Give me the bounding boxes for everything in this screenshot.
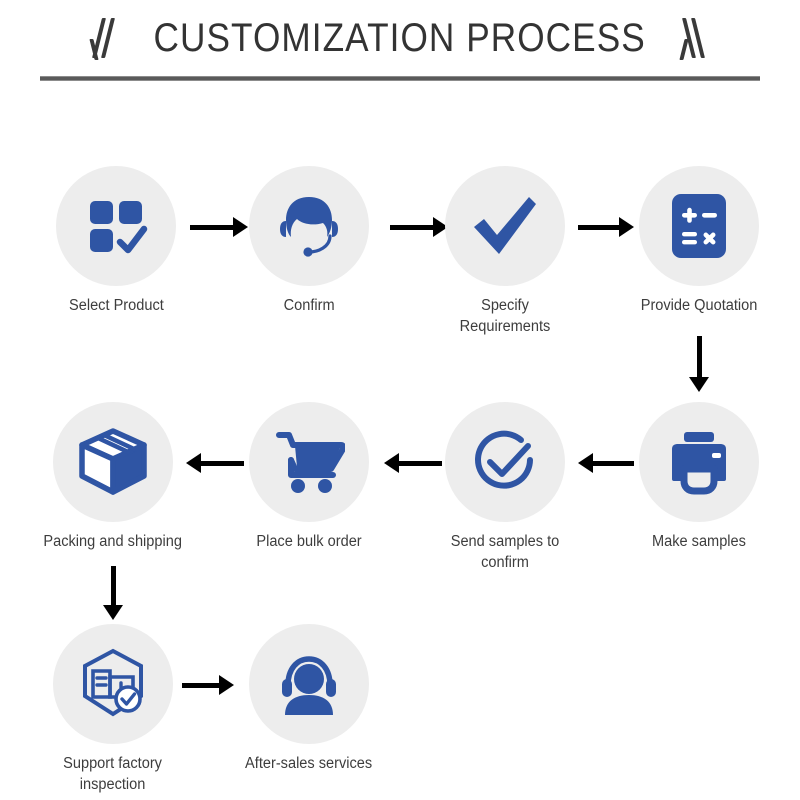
step-node-select-product[interactable]: Select Product	[41, 166, 191, 317]
step-node-packing-and-shipping[interactable]: Packing and shipping	[38, 402, 188, 553]
step-label: Provide Quotation	[641, 296, 758, 317]
arrow-step9-to-step10	[182, 674, 234, 696]
calculator-icon	[668, 192, 730, 260]
step-label: Packing and shipping	[44, 532, 183, 553]
page-title: CUSTOMIZATION PROCESS	[154, 16, 646, 61]
step-icon-circle	[53, 624, 173, 744]
step-label: Make samples	[652, 532, 746, 553]
arrow-step6-to-step7	[384, 452, 442, 474]
headset-agent-icon	[273, 190, 345, 262]
factory-inspection-shield-icon	[76, 647, 150, 721]
step-icon-circle	[249, 166, 369, 286]
customization-process-infographic: CUSTOMIZATION PROCESS Select Product	[0, 0, 800, 800]
step-label: Place bulk order	[256, 532, 361, 553]
step-node-send-samples-to-confirm[interactable]: Send samples to confirm	[430, 402, 580, 574]
step-icon-circle	[56, 166, 176, 286]
step-icon-circle	[445, 166, 565, 286]
title-divider	[40, 76, 760, 81]
step-label: Send samples to confirm	[435, 532, 576, 574]
step-node-after-sales-services[interactable]: After-sales services	[234, 624, 384, 775]
step-label: Select Product	[69, 296, 164, 317]
check-circle-icon	[469, 426, 541, 498]
arrow-step5-to-step6	[578, 452, 634, 474]
step-icon-circle	[639, 166, 759, 286]
checkmark-icon	[468, 189, 542, 263]
header: CUSTOMIZATION PROCESS	[0, 0, 800, 96]
step-icon-circle	[639, 402, 759, 522]
step-icon-circle	[249, 624, 369, 744]
step-icon-circle	[249, 402, 369, 522]
step-label: Specify Requirements	[435, 296, 576, 338]
step-node-provide-quotation[interactable]: Provide Quotation	[624, 166, 774, 317]
arrow-step8-to-step9	[102, 566, 124, 620]
double-chevron-left-icon	[682, 15, 708, 61]
arrow-step4-to-step5	[688, 336, 710, 392]
customer-support-icon	[273, 651, 345, 717]
step-label: After-sales services	[245, 754, 372, 775]
step-label: Support factory inspection	[64, 754, 163, 796]
arrow-step7-to-step8	[186, 452, 244, 474]
step-icon-circle	[445, 402, 565, 522]
step-node-support-factory-inspection[interactable]: Support factory inspection	[38, 624, 188, 796]
title-row: CUSTOMIZATION PROCESS	[0, 10, 800, 66]
step-label: Confirm	[283, 296, 334, 317]
step-node-confirm[interactable]: Confirm	[234, 166, 384, 317]
shopping-cart-icon	[273, 429, 345, 495]
step-node-make-samples[interactable]: Make samples	[624, 402, 774, 553]
double-chevron-right-icon	[92, 15, 118, 61]
step-node-place-bulk-order[interactable]: Place bulk order	[234, 402, 384, 553]
step-node-specify-requirements[interactable]: Specify Requirements	[430, 166, 580, 338]
package-box-icon	[76, 426, 150, 498]
grid-check-icon	[83, 193, 149, 259]
printer-icon	[664, 429, 734, 495]
step-icon-circle	[53, 402, 173, 522]
